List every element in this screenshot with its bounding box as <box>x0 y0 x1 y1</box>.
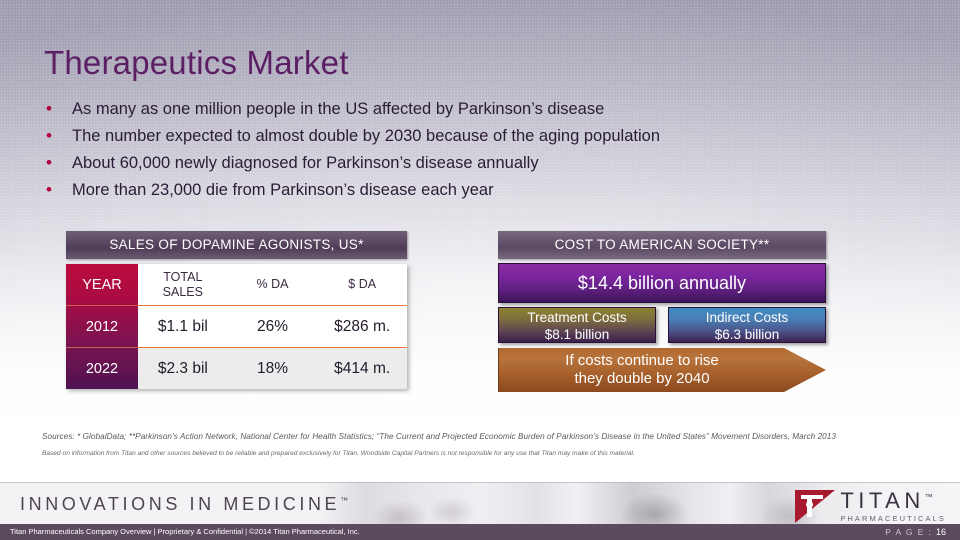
cost-panel-header: COST TO AMERICAN SOCIETY** <box>498 231 826 259</box>
slide-root: Therapeutics Market • As many as one mil… <box>0 0 960 540</box>
page-title: Therapeutics Market <box>44 44 349 82</box>
page-number-value: 16 <box>936 527 946 537</box>
titan-logo-wordmark: TITAN™ PHARMACEUTICALS <box>840 490 946 523</box>
table-row: $1.1 bil 26% $286 m. <box>138 305 407 347</box>
bullet-text: About 60,000 newly diagnosed for Parkins… <box>72 154 539 173</box>
cost-box-indirect-label: Indirect Costs <box>669 309 825 326</box>
sales-table: YEAR 2012 2022 TOTAL SALES % DA $ DA $1.… <box>66 264 407 389</box>
footer-bar: Titan Pharmaceuticals Company Overview |… <box>0 524 960 540</box>
page-number-badge: P A G E : 16 <box>885 527 946 537</box>
cost-projection-arrow: If costs continue to rise they double by… <box>498 348 826 392</box>
column-header-total-sales-line2: SALES <box>163 285 203 299</box>
column-header-total-sales-line1: TOTAL <box>163 270 202 284</box>
column-header-dollar-da: $ DA <box>317 277 407 291</box>
column-header-pct-da: % DA <box>228 277 318 291</box>
banner-top-divider <box>0 482 960 483</box>
bullet-dot-icon: • <box>44 127 72 144</box>
titan-logo-subtitle: PHARMACEUTICALS <box>840 515 946 523</box>
bullet-dot-icon: • <box>44 181 72 198</box>
banner-tagline: INNOVATIONS IN MEDICINE™ <box>20 494 348 515</box>
cost-box-treatment-label: Treatment Costs <box>499 309 655 326</box>
table-row: $2.3 bil 18% $414 m. <box>138 347 407 389</box>
titan-logo-name: TITAN™ <box>840 490 946 512</box>
cost-box-indirect-value: $6.3 billion <box>669 326 825 343</box>
sources-disclaimer: Based on information from Titan and othe… <box>42 449 862 459</box>
arrow-text-line1: If costs continue to rise <box>498 352 786 370</box>
sales-table-year-column: YEAR 2012 2022 <box>66 264 138 389</box>
list-item: • About 60,000 newly diagnosed for Parki… <box>44 154 924 179</box>
table-header-row: TOTAL SALES % DA $ DA <box>138 264 407 305</box>
arrow-text-line2: they double by 2040 <box>498 370 786 388</box>
arrow-text: If costs continue to rise they double by… <box>498 352 786 388</box>
list-item: • The number expected to almost double b… <box>44 127 924 152</box>
trademark-icon: ™ <box>340 496 348 505</box>
bullet-text: As many as one million people in the US … <box>72 100 604 119</box>
logo-bar-icon <box>801 495 823 499</box>
cost-total-box: $14.4 billion annually <box>498 263 826 303</box>
sources-note: Sources: * GlobalData; **Parkinson’s Act… <box>42 431 862 459</box>
cell-pct-da: 26% <box>228 318 318 336</box>
titan-logo-name-text: TITAN <box>840 488 924 513</box>
bullet-text: More than 23,000 die from Parkinson’s di… <box>72 181 494 200</box>
cell-dollar-da: $286 m. <box>317 318 407 336</box>
cell-total-sales: $1.1 bil <box>138 318 228 336</box>
titan-logo: TITAN™ PHARMACEUTICALS <box>795 490 946 523</box>
sources-citation: Sources: * GlobalData; **Parkinson’s Act… <box>42 431 862 443</box>
list-item: • More than 23,000 die from Parkinson’s … <box>44 181 924 206</box>
list-item: • As many as one million people in the U… <box>44 100 924 125</box>
page-number-label: P A G E : <box>885 527 932 537</box>
bullet-dot-icon: • <box>44 100 72 117</box>
table-row-year: 2022 <box>66 347 138 389</box>
table-row-year: 2012 <box>66 305 138 347</box>
footer-confidential-text: Titan Pharmaceuticals Company Overview |… <box>10 527 360 536</box>
cost-panel: COST TO AMERICAN SOCIETY** $14.4 billion… <box>498 231 826 392</box>
cell-dollar-da: $414 m. <box>317 360 407 378</box>
cost-box-treatment: Treatment Costs $8.1 billion <box>498 307 656 343</box>
column-header-year: YEAR <box>66 264 138 305</box>
bullet-list: • As many as one million people in the U… <box>44 100 924 208</box>
sales-panel: SALES OF DOPAMINE AGONISTS, US* YEAR 201… <box>66 231 407 389</box>
sales-table-data-columns: TOTAL SALES % DA $ DA $1.1 bil 26% $286 … <box>138 264 407 389</box>
banner-tagline-text: INNOVATIONS IN MEDICINE <box>20 494 340 514</box>
bullet-text: The number expected to almost double by … <box>72 127 660 146</box>
cost-breakdown-row: Treatment Costs $8.1 billion Indirect Co… <box>498 307 826 343</box>
column-header-total-sales: TOTAL SALES <box>138 270 228 299</box>
titan-logo-mark-icon <box>795 490 835 523</box>
bullet-dot-icon: • <box>44 154 72 171</box>
cell-total-sales: $2.3 bil <box>138 360 228 378</box>
cost-box-treatment-value: $8.1 billion <box>499 326 655 343</box>
sales-panel-header: SALES OF DOPAMINE AGONISTS, US* <box>66 231 407 259</box>
cell-pct-da: 18% <box>228 360 318 378</box>
cost-box-indirect: Indirect Costs $6.3 billion <box>668 307 826 343</box>
trademark-icon: ™ <box>925 493 933 502</box>
